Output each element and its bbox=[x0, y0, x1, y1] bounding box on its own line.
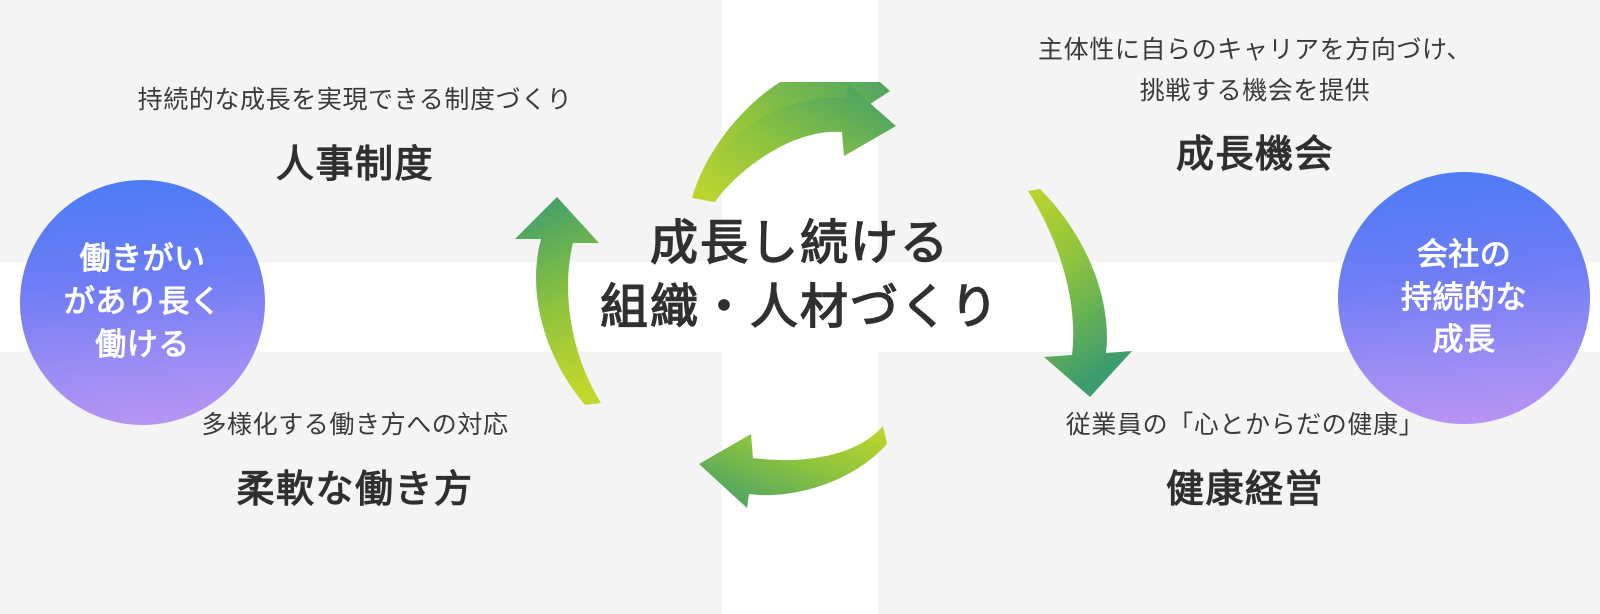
quadrant-health-management: 従業員の「心とからだの健康」 健康経営 bbox=[950, 405, 1540, 513]
bubble-company-value: 会社の 持続的な 成長 bbox=[1338, 172, 1590, 424]
quadrant-flexible-work-title: 柔軟な働き方 bbox=[60, 458, 650, 513]
quadrant-growth-opportunity: 主体性に自らのキャリアを方向づけ、 挑戦する機会を提供 成長機会 bbox=[960, 30, 1550, 178]
bubble-employee-value: 働きがい があり長く 働ける bbox=[20, 180, 265, 425]
bubble-employee-value-text: 働きがい があり長く 働ける bbox=[64, 238, 222, 366]
quadrant-growth-opportunity-subtitle: 主体性に自らのキャリアを方向づけ、 挑戦する機会を提供 bbox=[960, 30, 1550, 111]
quadrant-hr-system-subtitle: 持続的な成長を実現できる制度づくり bbox=[60, 80, 650, 121]
quadrant-health-management-subtitle: 従業員の「心とからだの健康」 bbox=[950, 405, 1540, 446]
quadrant-growth-opportunity-title: 成長機会 bbox=[960, 123, 1550, 178]
bubble-company-value-text: 会社の 持続的な 成長 bbox=[1401, 234, 1527, 362]
center-headline: 成長し続ける 組織・人材づくり bbox=[540, 212, 1060, 340]
quadrant-hr-system: 持続的な成長を実現できる制度づくり 人事制度 bbox=[60, 80, 650, 188]
quadrant-flexible-work: 多様化する働き方への対応 柔軟な働き方 bbox=[60, 405, 650, 513]
infographic-canvas: 働きがい があり長く 働ける 会社の 持続的な 成長 成長し続ける 組織・人材づ… bbox=[0, 0, 1600, 614]
quadrant-hr-system-title: 人事制度 bbox=[60, 133, 650, 188]
quadrant-health-management-title: 健康経営 bbox=[950, 458, 1540, 513]
quadrant-flexible-work-subtitle: 多様化する働き方への対応 bbox=[60, 405, 650, 446]
